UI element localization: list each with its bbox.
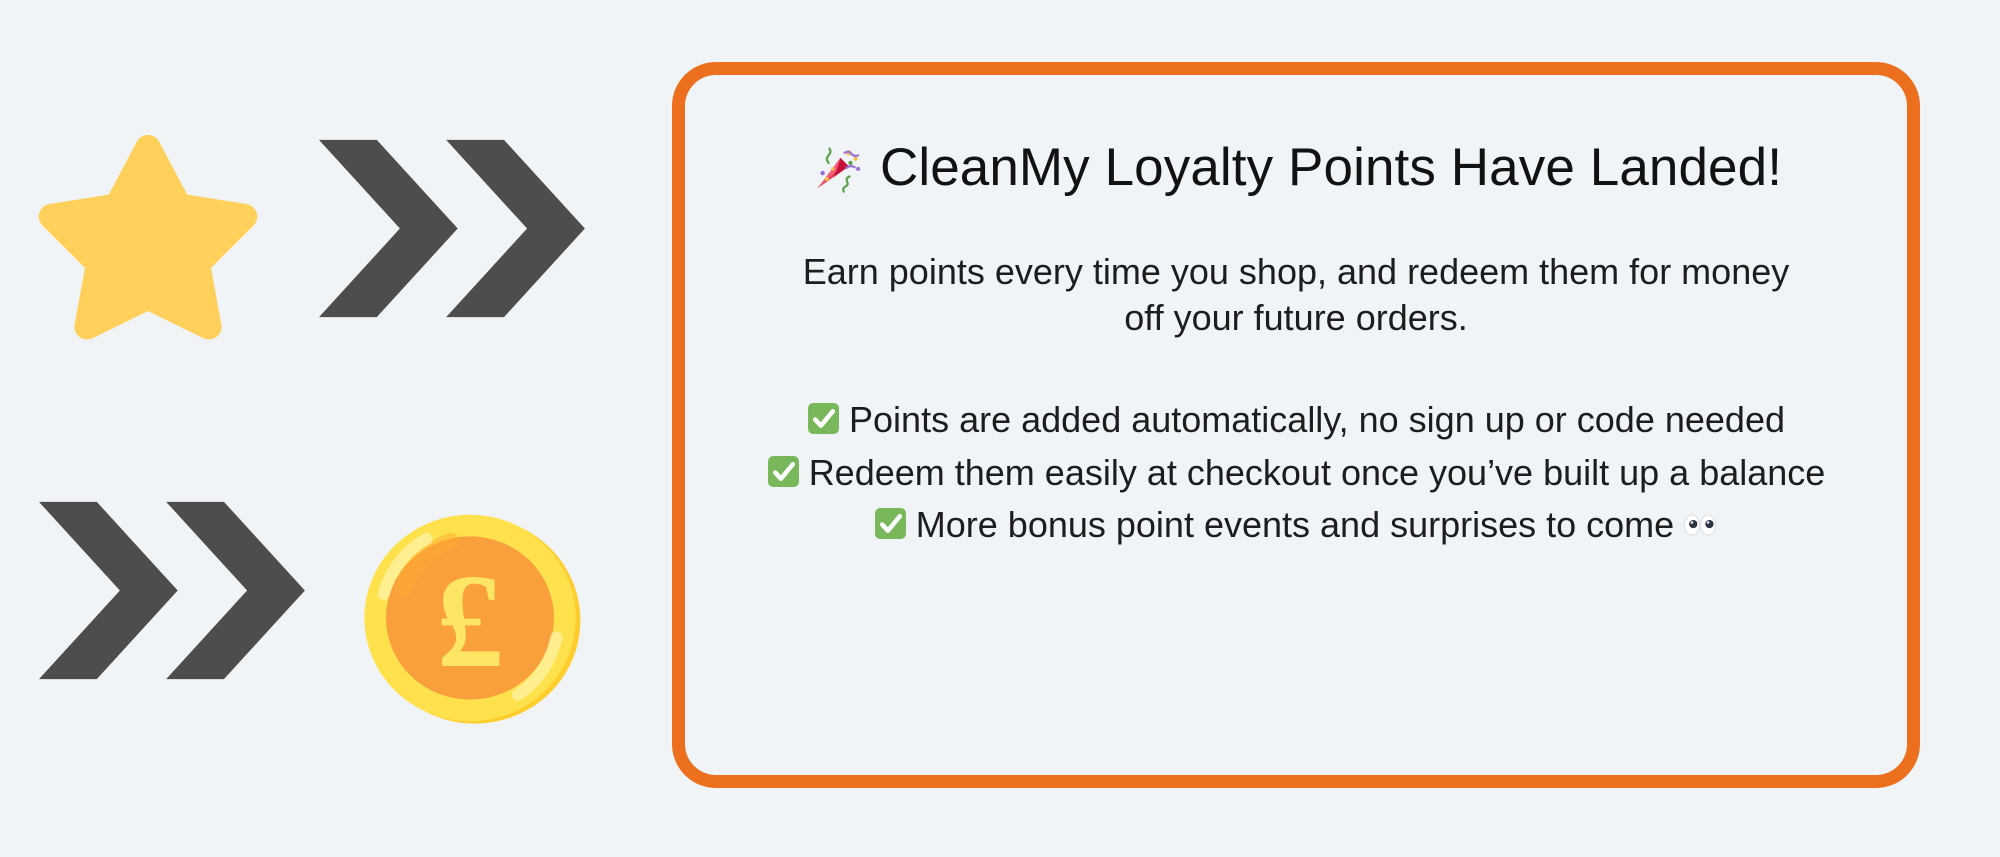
double-chevron-right-icon	[315, 136, 585, 321]
promo-banner: £ CleanMy Loyalty Points	[0, 0, 2000, 857]
card-intro-text: Earn points every time you shop, and red…	[796, 249, 1796, 341]
svg-text:£: £	[436, 547, 503, 696]
benefit-text: Redeem them easily at checkout once you’…	[809, 452, 1826, 493]
star-graphic	[18, 98, 278, 358]
card-title: CleanMy Loyalty Points Have Landed!	[741, 139, 1851, 197]
benefit-text: Points are added automatically, no sign …	[849, 399, 1785, 440]
benefit-item: More bonus point events and surprises to…	[761, 502, 1831, 548]
chevron-pair-top	[300, 128, 600, 328]
pound-coin-icon: £	[350, 498, 590, 738]
star-icon	[33, 113, 263, 343]
benefits-list: Points are added automatically, no sign …	[761, 397, 1831, 547]
benefit-text: More bonus point events and surprises to…	[916, 504, 1674, 545]
double-chevron-right-icon	[35, 498, 305, 683]
check-mark-button-icon	[767, 455, 800, 488]
check-mark-button-icon	[807, 402, 840, 435]
card-title-text: CleanMy Loyalty Points Have Landed!	[880, 139, 1782, 197]
graphics-panel: £	[0, 0, 640, 857]
benefit-item: Redeem them easily at checkout once you’…	[761, 450, 1831, 496]
benefit-item: Points are added automatically, no sign …	[761, 397, 1831, 443]
check-mark-button-icon	[874, 507, 907, 540]
eyes-icon	[1682, 510, 1718, 540]
announcement-card: CleanMy Loyalty Points Have Landed! Earn…	[672, 62, 1920, 788]
chevron-pair-bottom	[20, 490, 320, 690]
party-popper-icon	[810, 141, 864, 195]
coin-graphic: £	[330, 478, 610, 758]
